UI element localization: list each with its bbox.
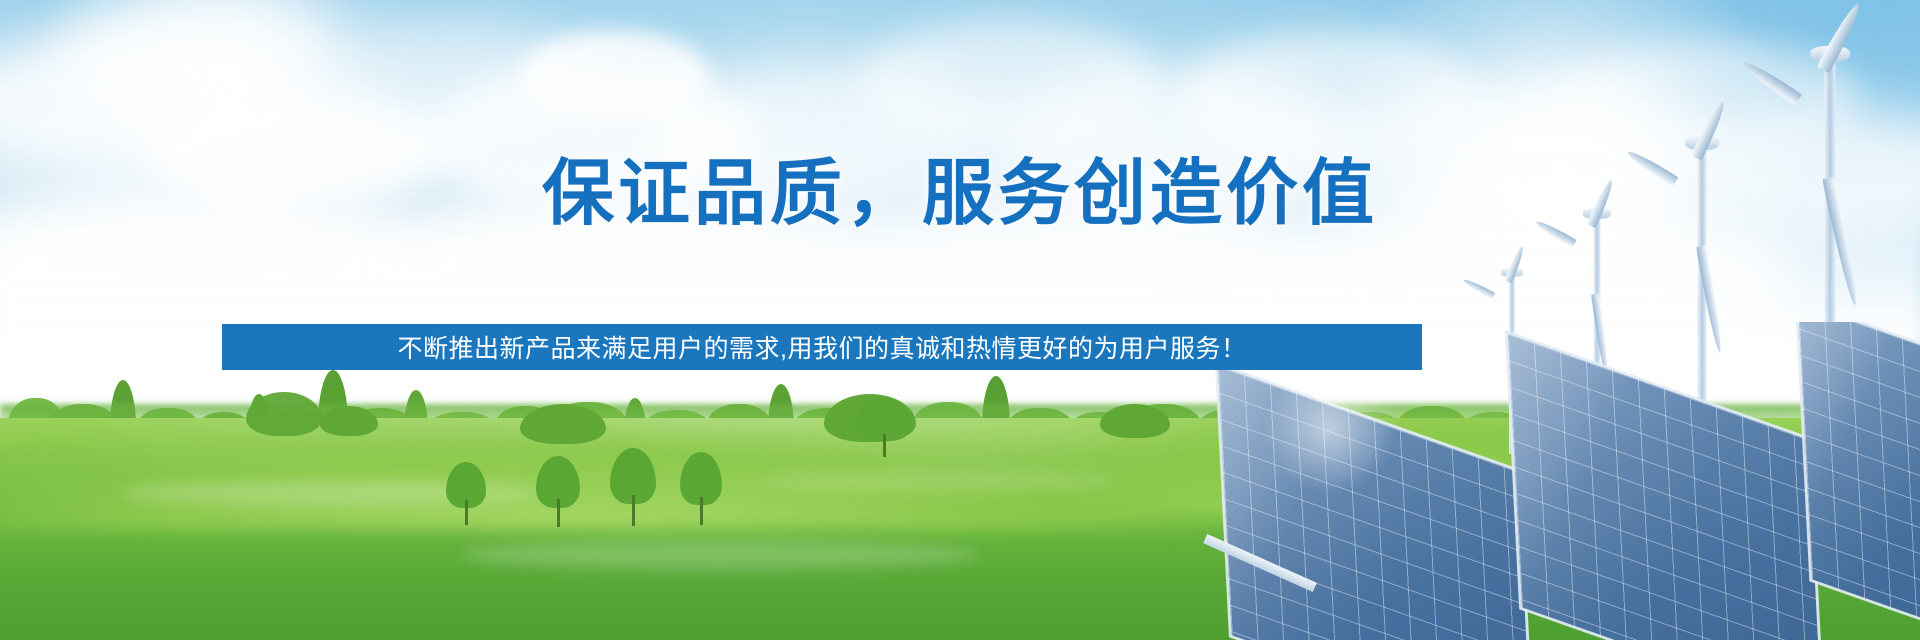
- sapling: [856, 398, 912, 456]
- page-title: 保证品质，服务创造价值: [0, 158, 1920, 230]
- sapling: [610, 448, 656, 524]
- sapling: [536, 456, 580, 526]
- sapling: [446, 462, 486, 524]
- hero-banner: 保证品质，服务创造价值 不断推出新产品来满足用户的需求,用我们的真诚和热情更好的…: [0, 0, 1920, 640]
- panel-sun-reflection: [1260, 358, 1400, 498]
- shrub: [320, 406, 378, 436]
- grass-highlight: [760, 470, 1120, 492]
- sapling: [680, 452, 722, 524]
- solar-panel: [1798, 322, 1920, 640]
- solar-panel: [1508, 334, 1822, 640]
- shrub: [1100, 404, 1170, 438]
- grass-highlight: [460, 540, 980, 570]
- subtitle-bar: 不断推出新产品来满足用户的需求,用我们的真诚和热情更好的为用户服务！: [222, 324, 1422, 370]
- subtitle-text: 不断推出新产品来满足用户的需求,用我们的真诚和热情更好的为用户服务！: [398, 329, 1247, 365]
